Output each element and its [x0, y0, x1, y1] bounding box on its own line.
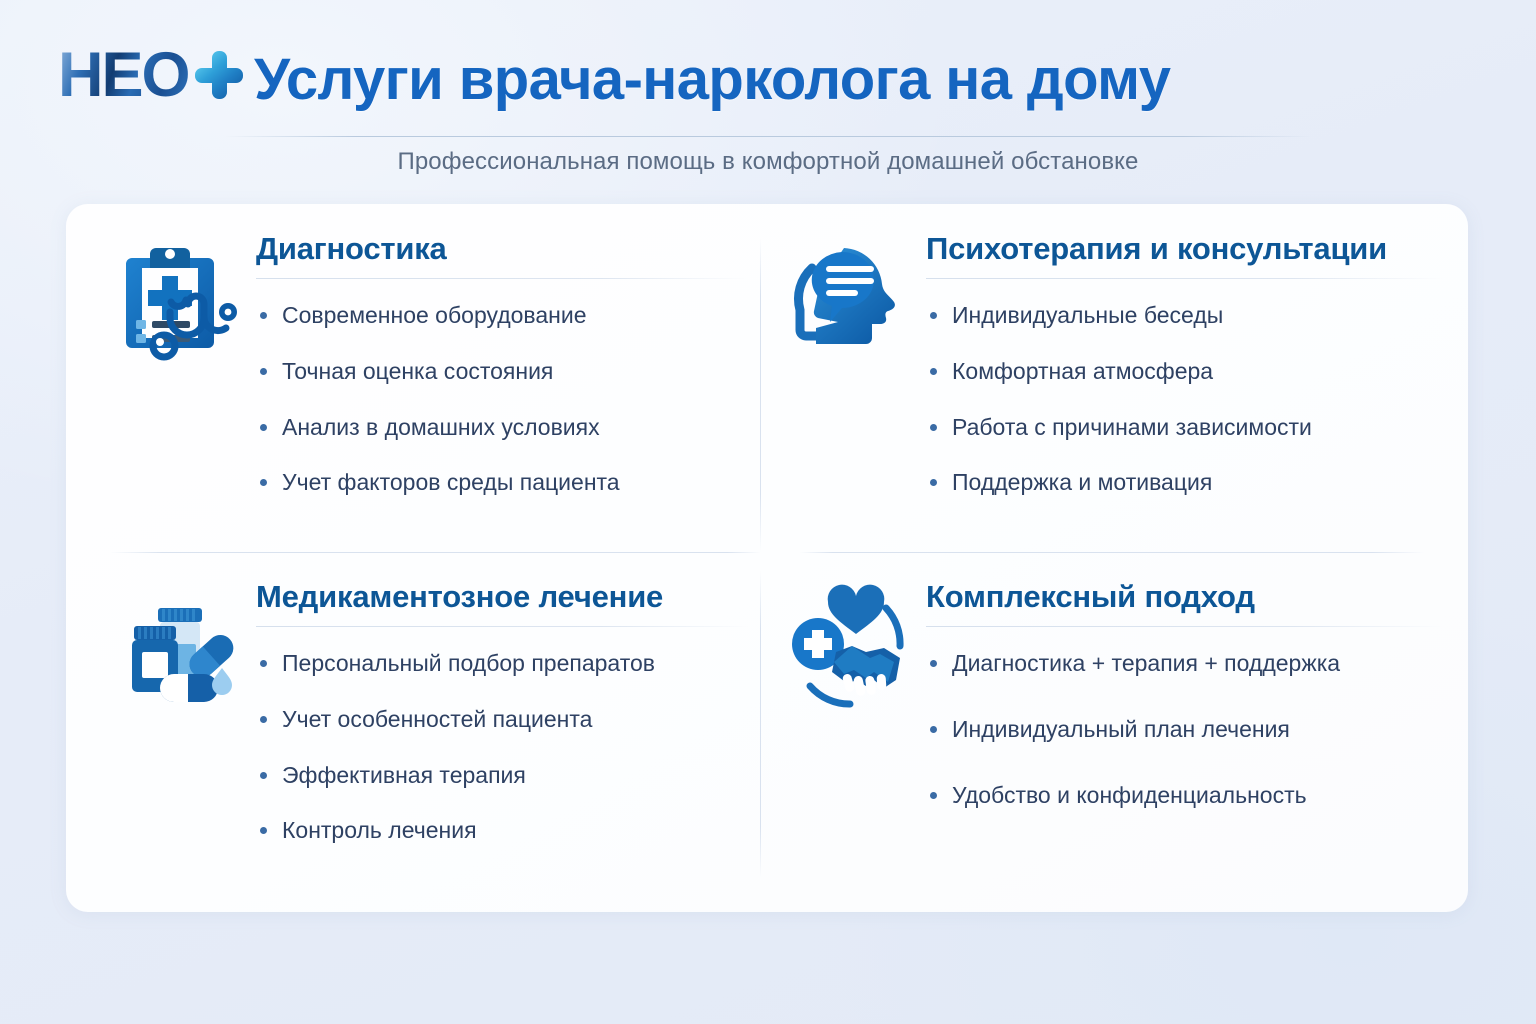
- list-item: Точная оценка состояния: [256, 357, 748, 387]
- list-item-label: Работа с причинами зависимости: [952, 414, 1312, 440]
- head-speech-bubble-icon: [782, 234, 914, 366]
- list-item: Анализ в домашних условиях: [256, 413, 748, 443]
- panel-horizontal-divider: [110, 552, 1424, 553]
- header-divider: [225, 136, 1313, 137]
- list-item-label: Индивидуальные беседы: [952, 302, 1223, 328]
- brand-logo: HEO: [58, 44, 244, 106]
- list-item-label: Анализ в домашних условиях: [282, 414, 600, 440]
- list-item-label: Удобство и конфиденциальность: [952, 782, 1307, 808]
- bullet-dot-icon: [930, 726, 937, 733]
- service-card-diagnostics: Диагностика Современное оборудование Точ…: [112, 226, 748, 498]
- service-card-title: Комплексный подход: [926, 580, 1442, 615]
- service-card-bullets: Современное оборудование Точная оценка с…: [256, 301, 748, 499]
- bullet-dot-icon: [930, 479, 937, 486]
- service-card-bullets: Диагностика + терапия + поддержка Индиви…: [926, 649, 1442, 811]
- bullet-dot-icon: [260, 660, 267, 667]
- services-panel: Диагностика Современное оборудование Точ…: [66, 204, 1468, 912]
- list-item-label: Современное оборудование: [282, 302, 587, 328]
- list-item: Удобство и конфиденциальность: [926, 781, 1442, 811]
- service-card-body: Диагностика Современное оборудование Точ…: [256, 226, 748, 498]
- plus-cross-icon: [194, 50, 244, 100]
- bullet-dot-icon: [930, 368, 937, 375]
- list-item-label: Индивидуальный план лечения: [952, 716, 1290, 742]
- list-item: Учет особенностей пациента: [256, 705, 748, 735]
- list-item: Индивидуальные беседы: [926, 301, 1442, 331]
- service-card-title: Диагностика: [256, 232, 748, 267]
- list-item: Диагностика + терапия + поддержка: [926, 649, 1442, 679]
- panel-vertical-divider: [760, 238, 761, 878]
- bullet-dot-icon: [930, 424, 937, 431]
- page-subtitle: Профессиональная помощь в комфортной дом…: [0, 148, 1536, 176]
- list-item-label: Точная оценка состояния: [282, 358, 553, 384]
- list-item: Современное оборудование: [256, 301, 748, 331]
- bullet-dot-icon: [260, 312, 267, 319]
- list-item: Работа с причинами зависимости: [926, 413, 1442, 443]
- service-card-body: Медикаментозное лечение Персональный под…: [256, 574, 748, 846]
- list-item: Персональный подбор препаратов: [256, 649, 748, 679]
- brand-logo-text: HEO: [58, 44, 189, 107]
- list-item-label: Учет факторов среды пациента: [282, 469, 620, 495]
- list-item-label: Учет особенностей пациента: [282, 706, 592, 732]
- service-card-body: Психотерапия и консультации Индивидуальн…: [926, 226, 1442, 498]
- service-card-medication: Медикаментозное лечение Персональный под…: [112, 574, 748, 846]
- service-card-body: Комплексный подход Диагностика + терапия…: [926, 574, 1442, 846]
- service-card-bullets: Индивидуальные беседы Комфортная атмосфе…: [926, 301, 1442, 499]
- service-card-divider: [256, 278, 748, 279]
- clipboard-stethoscope-icon: [112, 234, 244, 366]
- service-card-bullets: Персональный подбор препаратов Учет особ…: [256, 649, 748, 847]
- page-title: Услуги врача-нарколога на дому: [254, 46, 1170, 113]
- bullet-dot-icon: [260, 368, 267, 375]
- bullet-dot-icon: [260, 479, 267, 486]
- service-card-complex-approach: Комплексный подход Диагностика + терапия…: [782, 574, 1442, 846]
- list-item: Учет факторов среды пациента: [256, 468, 748, 498]
- bullet-dot-icon: [930, 312, 937, 319]
- bullet-dot-icon: [930, 660, 937, 667]
- list-item: Контроль лечения: [256, 816, 748, 846]
- bullet-dot-icon: [930, 792, 937, 799]
- list-item: Поддержка и мотивация: [926, 468, 1442, 498]
- bullet-dot-icon: [260, 827, 267, 834]
- list-item-label: Персональный подбор препаратов: [282, 650, 655, 676]
- service-card-divider: [926, 626, 1442, 627]
- list-item-label: Диагностика + терапия + поддержка: [952, 650, 1340, 676]
- list-item: Эффективная терапия: [256, 761, 748, 791]
- page-header: HEO Услуги врача-нарколога на дому Профе…: [0, 0, 1536, 196]
- bullet-dot-icon: [260, 424, 267, 431]
- service-card-divider: [926, 278, 1442, 279]
- list-item: Индивидуальный план лечения: [926, 715, 1442, 745]
- list-item-label: Комфортная атмосфера: [952, 358, 1213, 384]
- service-card-title: Психотерапия и консультации: [926, 232, 1442, 267]
- bullet-dot-icon: [260, 772, 267, 779]
- pill-bottles-icon: [112, 582, 244, 714]
- service-card-divider: [256, 626, 748, 627]
- handshake-heart-cross-icon: [782, 582, 914, 714]
- bullet-dot-icon: [260, 716, 267, 723]
- list-item-label: Поддержка и мотивация: [952, 469, 1212, 495]
- service-card-psychotherapy: Психотерапия и консультации Индивидуальн…: [782, 226, 1442, 498]
- service-card-title: Медикаментозное лечение: [256, 580, 748, 615]
- list-item-label: Контроль лечения: [282, 817, 477, 843]
- list-item-label: Эффективная терапия: [282, 762, 526, 788]
- list-item: Комфортная атмосфера: [926, 357, 1442, 387]
